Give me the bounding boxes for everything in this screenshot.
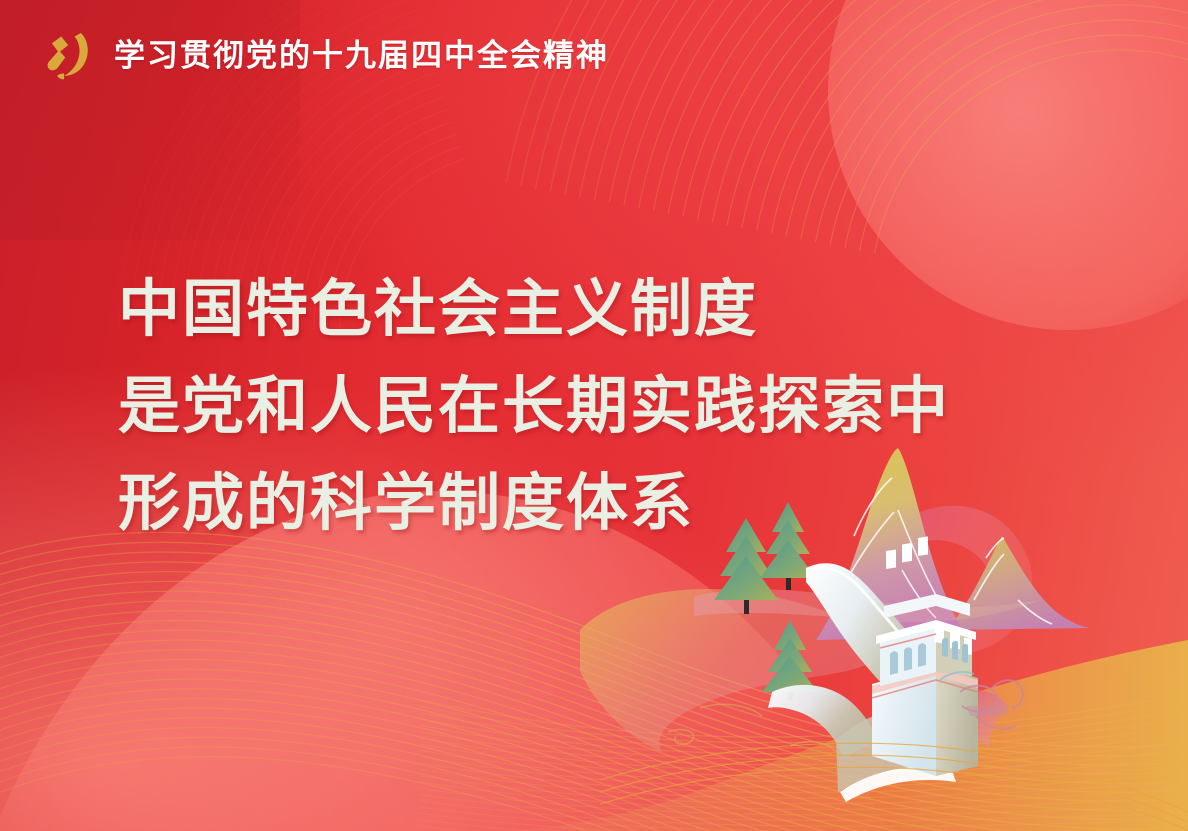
great-wall-watchtower-landscape xyxy=(640,440,1188,831)
header-title: 学习贯彻党的十九届四中全会精神 xyxy=(114,40,609,71)
pine-tree xyxy=(714,518,778,614)
poster-canvas: 学习贯彻党的十九届四中全会精神 中国特色社会主义制度 是党和人民在长期实践探索中… xyxy=(0,0,1188,831)
gold-ripple-lines xyxy=(600,743,1188,830)
header-bar: 学习贯彻党的十九届四中全会精神 xyxy=(0,0,1188,110)
cpc-hammer-sickle-emblem xyxy=(38,26,96,84)
headline-line-1: 中国特色社会主义制度 xyxy=(118,262,950,359)
